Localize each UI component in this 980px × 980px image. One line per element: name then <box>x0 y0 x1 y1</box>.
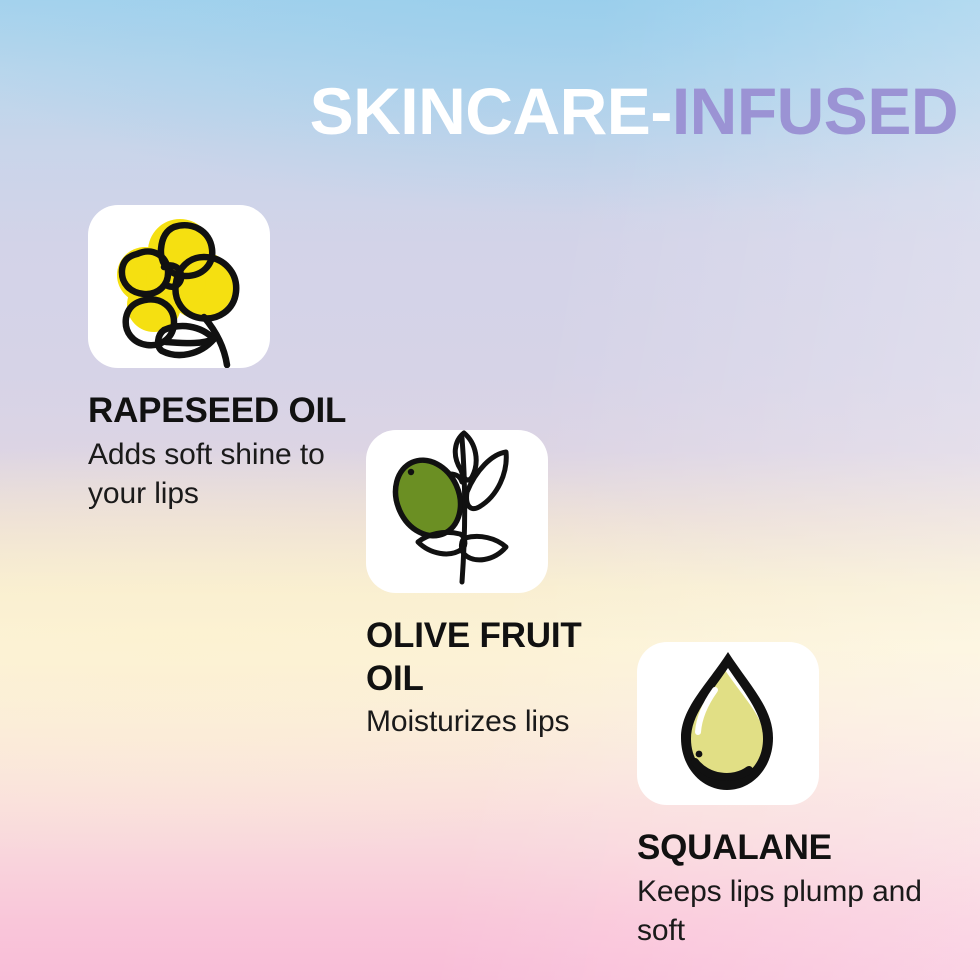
ingredient-description: Moisturizes lips <box>366 702 641 741</box>
ingredient-description: Adds soft shine to your lips <box>88 435 378 513</box>
oil-droplet-icon <box>637 642 819 805</box>
ingredient-name: OLIVE FRUIT OIL <box>366 615 641 700</box>
ingredient-squalane: SQUALANE Keeps lips plump and soft <box>637 642 937 950</box>
ingredient-rapeseed: RAPESEED OIL Adds soft shine to your lip… <box>88 205 378 513</box>
skincare-infused-poster: SKINCARE-INFUSED <box>0 0 980 980</box>
olive-branch-icon <box>366 430 548 593</box>
ingredient-text-squalane: SQUALANE Keeps lips plump and soft <box>637 827 937 950</box>
ingredient-icon-tile-olive <box>366 430 548 593</box>
rapeseed-flower-icon <box>88 205 270 368</box>
page-title-accent: INFUSED <box>672 74 958 148</box>
ingredient-description: Keeps lips plump and soft <box>637 872 937 950</box>
ingredient-text-olive: OLIVE FRUIT OIL Moisturizes lips <box>366 615 641 741</box>
ingredient-name: RAPESEED OIL <box>88 390 363 433</box>
page-title: SKINCARE-INFUSED <box>0 78 958 144</box>
ingredient-text-rapeseed: RAPESEED OIL Adds soft shine to your lip… <box>88 390 378 513</box>
ingredient-icon-tile-rapeseed <box>88 205 270 368</box>
page-title-primary: SKINCARE- <box>310 74 672 148</box>
ingredient-olive: OLIVE FRUIT OIL Moisturizes lips <box>366 430 641 741</box>
ingredient-icon-tile-squalane <box>637 642 819 805</box>
ingredient-name: SQUALANE <box>637 827 912 870</box>
